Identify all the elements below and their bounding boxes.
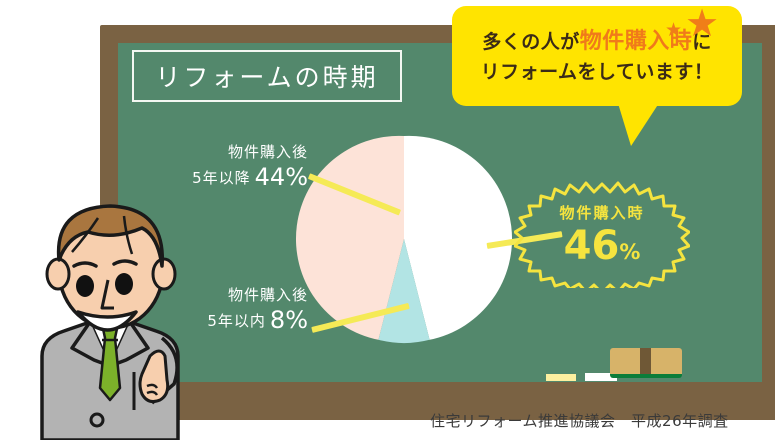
highlight-badge-value: 46% bbox=[564, 226, 641, 266]
highlight-badge-title: 物件購入時 bbox=[559, 202, 644, 223]
infographic-stage: リフォームの時期 物件購入後 5年以降44% 物件購入後 5年以内8% 物件購入… bbox=[0, 0, 775, 440]
speech-bubble-tail bbox=[617, 100, 661, 146]
presenter-illustration bbox=[2, 188, 217, 440]
highlight-badge-content: 物件購入時 46% bbox=[514, 180, 690, 288]
speech-bubble-line-2: リフォームをしています！ bbox=[481, 58, 714, 87]
yellow-chalk-icon bbox=[546, 374, 576, 381]
pie-label-8-value: 8% bbox=[270, 306, 308, 334]
pie-label-44: 物件購入後 5年以降44% bbox=[148, 143, 308, 192]
star-small-icon: ★ bbox=[665, 21, 682, 40]
chart-title-box: リフォームの時期 bbox=[132, 50, 402, 102]
speech-bubble: 多くの人が物件購入時に リフォームをしています！ ★ ★ bbox=[452, 6, 742, 106]
highlight-badge-46: 物件購入時 46% bbox=[514, 180, 690, 288]
pie-chart bbox=[295, 130, 513, 348]
pie-label-44-value: 44% bbox=[255, 163, 308, 191]
pie-chart-svg bbox=[295, 130, 513, 348]
star-large-icon: ★ bbox=[685, 4, 719, 42]
blackboard-eraser-icon bbox=[610, 348, 682, 378]
pie-label-44-line1: 物件購入後 bbox=[148, 143, 308, 162]
source-caption: 住宅リフォーム推進協議会 平成26年調査 bbox=[430, 410, 775, 431]
speech-text-pre: 多くの人が bbox=[482, 31, 580, 53]
presenter-icon bbox=[2, 188, 217, 440]
page-title: リフォームの時期 bbox=[155, 58, 378, 94]
pie-label-44-text: 5年以降 bbox=[192, 169, 251, 187]
